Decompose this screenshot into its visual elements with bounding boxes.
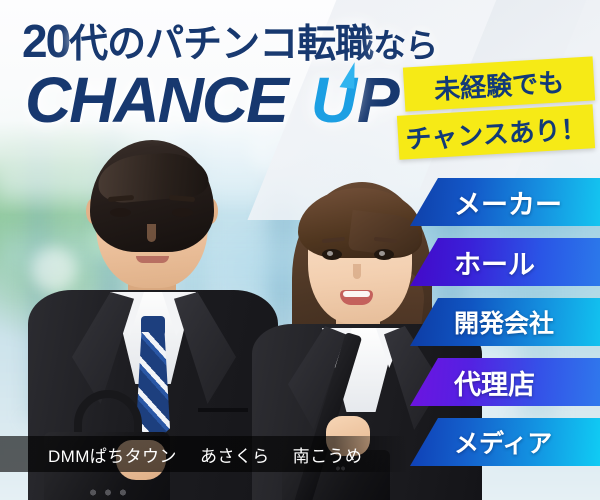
male-eye-left — [110, 208, 131, 217]
headline-number: 20 — [22, 15, 69, 67]
credit-site-name: DMMぱちタウン — [48, 447, 177, 466]
category-label-maker: メーカー — [454, 183, 562, 222]
badge-2-label: チャンスあり！ — [404, 108, 587, 156]
male-nose — [147, 224, 156, 242]
category-list: メーカー ホール 開発会社 代理店 メディア — [410, 178, 600, 478]
chance-up-logo: CHANCE U P — [25, 68, 398, 132]
credit-person-1: あさくら — [200, 447, 270, 466]
category-label-agency: 代理店 — [454, 363, 535, 402]
logo-letter-u-arrow: U — [311, 68, 355, 132]
female-hair-fringe — [298, 188, 422, 258]
category-label-media: メディア — [454, 424, 552, 460]
logo-word-chance: CHANCE — [25, 68, 287, 132]
category-item-maker[interactable]: メーカー — [410, 178, 600, 226]
male-mouth — [136, 256, 169, 263]
headline-main: 代のパチンコ転職 — [69, 23, 373, 66]
credit-person-2: 南こうめ — [293, 447, 363, 466]
female-eye-right — [374, 249, 394, 260]
credit-bar: DMMぱちタウン あさくら 南こうめ — [0, 436, 408, 472]
female-mouth — [340, 290, 373, 305]
headline-suffix: なら — [373, 27, 437, 64]
category-label-developer: 開発会社 — [454, 304, 554, 340]
female-eye-left — [322, 249, 342, 260]
headline-text: 20代のパチンコ転職なら — [22, 18, 437, 64]
category-item-agency[interactable]: 代理店 — [410, 358, 600, 406]
category-item-hall[interactable]: ホール — [410, 238, 600, 286]
male-chest-pocket — [198, 408, 248, 412]
badge-1-label: 未経験でも — [433, 62, 565, 107]
female-nose — [353, 264, 361, 279]
category-item-developer[interactable]: 開発会社 — [410, 298, 600, 346]
male-briefcase-clasps — [86, 488, 130, 497]
advertisement-banner[interactable]: 20代のパチンコ転職なら CHANCE U P 未経験でも チャンスあり！ メー… — [0, 0, 600, 500]
credit-names: DMMぱちタウン あさくら 南こうめ — [0, 442, 362, 467]
category-item-media[interactable]: メディア — [410, 418, 600, 466]
male-eye-right — [172, 208, 193, 217]
logo-letter-p: P — [357, 68, 398, 132]
category-label-hall: ホール — [454, 243, 535, 282]
